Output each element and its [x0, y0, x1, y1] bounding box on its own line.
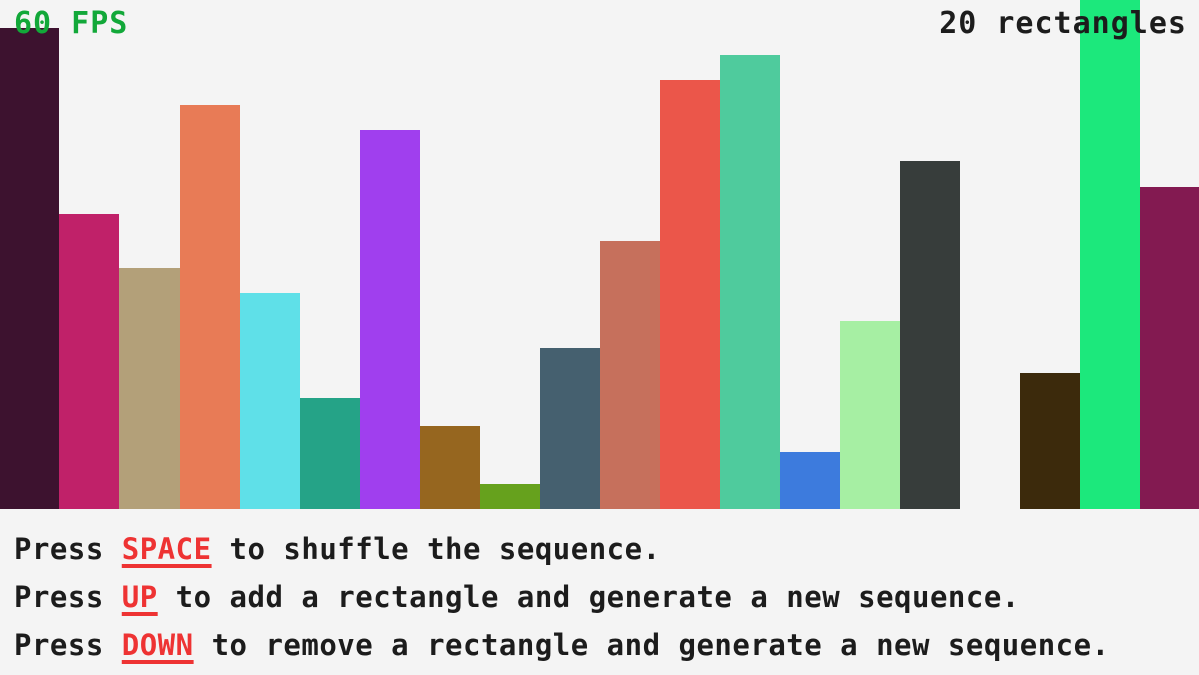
bar-13-mint-green: [720, 55, 780, 509]
instruction-line-2: Press UP to add a rectangle and generate…: [14, 573, 1199, 621]
instruction-prefix: Press: [14, 628, 122, 662]
key-up[interactable]: UP: [122, 580, 158, 614]
bar-11-brick: [600, 241, 660, 509]
bar-16-dark-gray: [900, 161, 960, 509]
bar-chart-canvas[interactable]: [0, 0, 1199, 509]
instructions-panel: Press SPACE to shuffle the sequence.Pres…: [0, 509, 1199, 675]
instruction-prefix: Press: [14, 580, 122, 614]
bar-19-bright-green: [1080, 0, 1140, 509]
bar-12-red: [660, 80, 720, 509]
instruction-suffix: to shuffle the sequence.: [212, 532, 661, 566]
bar-20-dark-magenta: [1140, 187, 1199, 509]
rectangle-visualizer-app: 60 FPS 20 rectangles Press SPACE to shuf…: [0, 0, 1199, 675]
bar-8-brown: [420, 426, 480, 509]
instruction-line-1: Press SPACE to shuffle the sequence.: [14, 525, 1199, 573]
bar-4-orange: [180, 105, 240, 509]
fps-counter: 60 FPS: [14, 7, 128, 41]
bar-9-olive-green: [480, 484, 540, 509]
bar-15-pale-green: [840, 321, 900, 509]
bar-3-tan: [119, 268, 180, 509]
bar-1-dark-plum: [0, 28, 59, 509]
bar-18-dark-brown: [1020, 373, 1080, 509]
key-space[interactable]: SPACE: [122, 532, 212, 566]
bar-2-crimson-pink: [59, 214, 119, 509]
bar-14-blue: [780, 452, 840, 509]
instruction-line-3: Press DOWN to remove a rectangle and gen…: [14, 621, 1199, 669]
bar-5-cyan: [240, 293, 300, 509]
instruction-prefix: Press: [14, 532, 122, 566]
instruction-suffix: to remove a rectangle and generate a new…: [194, 628, 1110, 662]
instruction-suffix: to add a rectangle and generate a new se…: [158, 580, 1020, 614]
key-down[interactable]: DOWN: [122, 628, 194, 662]
bar-7-purple: [360, 130, 420, 509]
rectangle-count-label: 20 rectangles: [939, 7, 1187, 41]
bar-10-slate-blue: [540, 348, 600, 509]
bar-6-teal: [300, 398, 360, 509]
